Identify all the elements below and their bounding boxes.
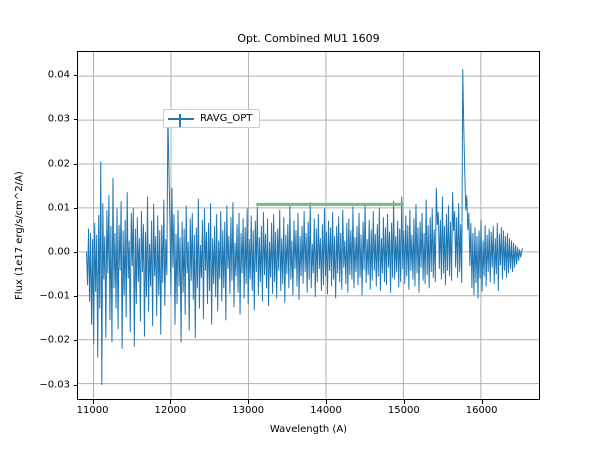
y-tick-label: 0.02 <box>30 158 70 169</box>
x-tick-label: 15000 <box>388 405 420 416</box>
page-title: Opt. Combined MU1 1609 <box>77 32 540 45</box>
plot-axes: RAVG_OPT <box>77 51 540 400</box>
y-tick-mark <box>74 119 78 120</box>
data-series-layer <box>78 52 539 399</box>
x-tick-mark <box>248 400 249 404</box>
x-axis-label: Wavelength (A) <box>77 424 540 435</box>
legend-line-swatch <box>168 118 194 120</box>
y-tick-mark <box>74 385 78 386</box>
y-tick-mark <box>74 208 78 209</box>
y-tick-label: −0.01 <box>30 291 70 302</box>
y-tick-label: 0.04 <box>30 70 70 81</box>
y-tick-mark <box>74 296 78 297</box>
y-tick-label: −0.03 <box>30 379 70 390</box>
y-tick-label: 0.03 <box>30 114 70 125</box>
y-tick-mark <box>74 340 78 341</box>
y-tick-mark <box>74 164 78 165</box>
x-tick-label: 11000 <box>77 405 109 416</box>
x-tick-label: 14000 <box>310 405 342 416</box>
y-tick-label: 0.01 <box>30 202 70 213</box>
x-tick-mark <box>482 400 483 404</box>
matplotlib-figure: Opt. Combined MU1 1609 Flux (1e17 erg/s/… <box>0 0 600 450</box>
x-tick-mark <box>326 400 327 404</box>
y-tick-mark <box>74 75 78 76</box>
x-tick-label: 13000 <box>232 405 264 416</box>
x-tick-mark <box>93 400 94 404</box>
x-tick-mark <box>170 400 171 404</box>
x-tick-label: 12000 <box>154 405 186 416</box>
legend-item-label: RAVG_OPT <box>200 113 252 124</box>
y-axis-label: Flux (1e17 erg/s/cm^2/A) <box>14 171 25 300</box>
x-tick-label: 16000 <box>466 405 498 416</box>
x-tick-mark <box>404 400 405 404</box>
y-tick-mark <box>74 252 78 253</box>
y-tick-label: −0.02 <box>30 335 70 346</box>
legend[interactable]: RAVG_OPT <box>163 109 260 128</box>
y-tick-label: 0.00 <box>30 247 70 258</box>
